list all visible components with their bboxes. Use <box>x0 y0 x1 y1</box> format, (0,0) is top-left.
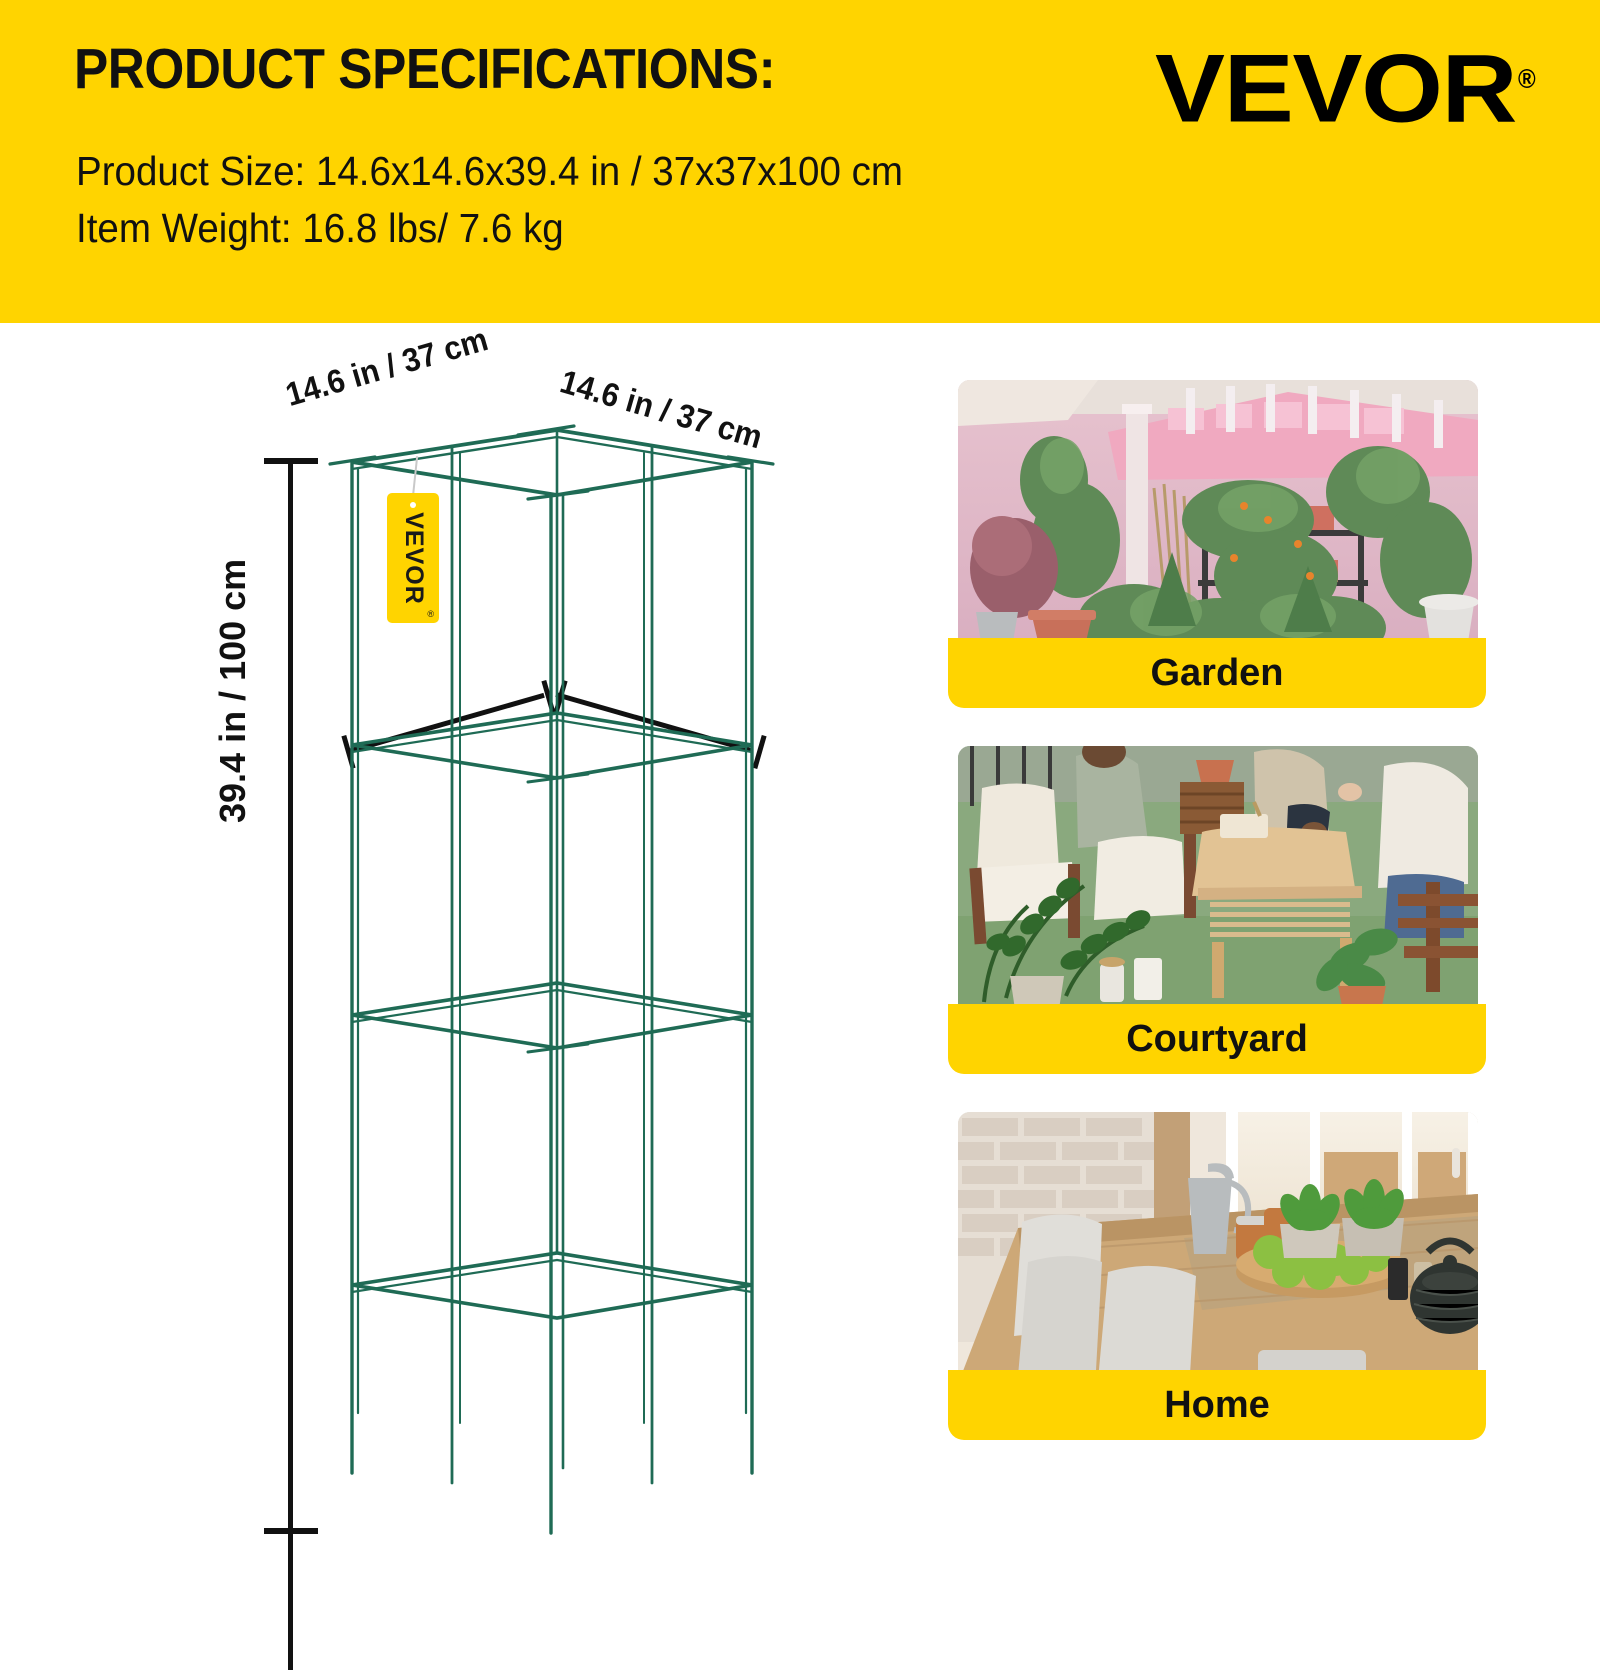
scenario-card-garden[interactable]: Garden <box>940 380 1496 708</box>
scenario-card-home[interactable]: Home <box>940 1112 1496 1440</box>
header-band: PRODUCT SPECIFICATIONS: Product Size: 14… <box>0 0 1600 323</box>
hangtag-registered-mark-icon: ® <box>427 609 434 619</box>
scenario-label-home: Home <box>948 1370 1486 1440</box>
scenario-card-courtyard[interactable]: Courtyard <box>940 746 1496 1074</box>
scenario-label-courtyard: Courtyard <box>948 1004 1486 1074</box>
scenario-photo-home <box>958 1112 1478 1384</box>
tomato-cage-illustration <box>0 323 900 1600</box>
vevor-hangtag: VEVOR ® <box>387 493 439 623</box>
scenario-label-garden: Garden <box>948 638 1486 708</box>
spec-product-size: Product Size: 14.6x14.6x39.4 in / 37x37x… <box>76 148 903 195</box>
scenario-photo-courtyard <box>958 746 1478 1018</box>
spec-item-weight: Item Weight: 16.8 lbs/ 7.6 kg <box>76 205 564 252</box>
product-dimension-diagram: 14.6 in / 37 cm 14.6 in / 37 cm 39.4 in … <box>0 323 900 1600</box>
usage-scenario-cards: Garden <box>940 380 1540 1478</box>
registered-mark-icon: ® <box>1518 65 1536 96</box>
scenario-photo-garden <box>958 380 1478 652</box>
hangtag-label: VEVOR <box>399 512 428 605</box>
vevor-logo-text: VEVOR <box>1155 35 1516 143</box>
vevor-logo: VEVOR® <box>1155 34 1538 145</box>
page-title: PRODUCT SPECIFICATIONS: <box>74 36 775 102</box>
